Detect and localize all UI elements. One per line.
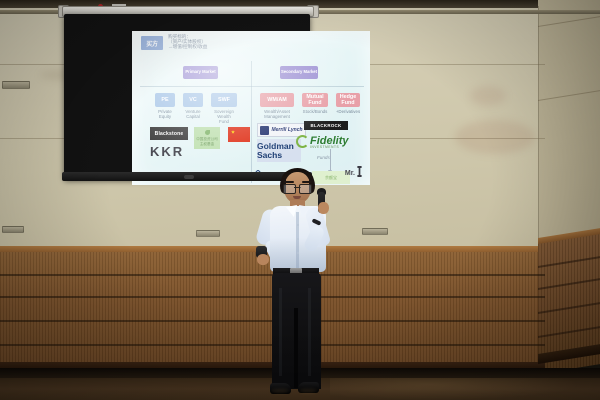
glasses-lens-left [283, 184, 296, 194]
presenter-right-hand [318, 202, 329, 214]
fidelity-ring-icon [296, 135, 309, 148]
slide-column-divider [251, 61, 252, 183]
presenter-shirt-placket [296, 212, 299, 270]
category-pe-subtitle: Private Equity [151, 109, 179, 119]
logo-goldman-sachs: Goldman Sachs [257, 139, 301, 162]
wall-vent-icon [196, 230, 220, 237]
category-vc-subtitle: Venture Capital [179, 109, 207, 119]
slide-row-divider [140, 86, 364, 87]
leaf-icon [205, 130, 210, 135]
slide-header-badge: 买方 [141, 36, 163, 50]
screenshot-scene: 买方 购买标的： （资产/实体股权） →增值/控制权/收益 Primary Ma… [0, 0, 600, 400]
wall-vent-icon [2, 226, 24, 233]
floor-reflection [330, 378, 580, 400]
trouser-crease [308, 288, 311, 376]
category-swf-subtitle: Sovereign Wealth Fund [208, 109, 240, 124]
category-pe: PE [155, 93, 175, 107]
wall-vent-icon [2, 81, 30, 89]
wall-corner-edge [538, 6, 539, 276]
slide-header-line-3: →增值/控制权/收益 [168, 45, 288, 50]
projector-screen-frame: 买方 购买标的： （资产/实体股权） →增值/控制权/收益 Primary Ma… [64, 14, 310, 179]
category-wm-am-subtitle: Wealth/Asset Management [258, 109, 296, 119]
presentation-slide: 买方 购买标的： （资产/实体股权） →增值/控制权/收益 Primary Ma… [132, 31, 370, 185]
trouser-inseam [294, 308, 298, 388]
category-wm-am: WM/AM [260, 93, 294, 107]
presenter-logo-icon [356, 166, 363, 177]
wall-vent-icon [362, 228, 388, 235]
category-mutual-fund-subtitle: Stock/Bonds [300, 109, 330, 114]
shoe-reflection [299, 389, 317, 393]
presenter-eyebrow [284, 181, 294, 183]
logo-blackrock: BLACKROCK [304, 121, 348, 130]
shoe-reflection [271, 389, 289, 393]
logo-cic-fund: 中国投资公司 主权基金 [194, 127, 220, 149]
market-pill-secondary: Secondary Market [280, 66, 318, 79]
funds-label: Funds [317, 155, 330, 160]
slide-header-text: 购买标的： （资产/实体股权） →增值/控制权/收益 [168, 35, 288, 49]
china-flag-icon [228, 127, 250, 142]
glasses-lens-right [299, 184, 312, 194]
category-hedge-fund: Hedge Fund [336, 93, 360, 107]
wall-stain [470, 86, 506, 106]
shirt-button [297, 224, 299, 226]
logo-cic-fund-label: 中国投资公司 主权基金 [194, 137, 220, 146]
category-mutual-fund: Mutual Fund [302, 93, 328, 107]
category-swf: SWF [211, 93, 237, 107]
star-icon [231, 130, 235, 134]
screen-pull-knob [184, 175, 194, 179]
category-hedge-fund-subtitle: +Derivatives [333, 109, 363, 114]
shirt-button [297, 238, 299, 240]
logo-blackstone: Blackstone [150, 127, 188, 140]
logo-kkr: KKR [150, 143, 192, 159]
presenter [248, 168, 352, 396]
presenter-eyebrow [302, 181, 312, 183]
glasses-icon [283, 184, 312, 192]
shirt-button [297, 252, 299, 254]
logo-fidelity-subtitle: INVESTMENTS [310, 145, 339, 149]
presenter-left-hand [257, 254, 269, 265]
bull-icon [260, 126, 269, 135]
category-vc: VC [183, 93, 203, 107]
wall-stain [455, 120, 535, 154]
trouser-crease [279, 288, 282, 376]
market-pill-primary: Primary Market [183, 66, 218, 79]
